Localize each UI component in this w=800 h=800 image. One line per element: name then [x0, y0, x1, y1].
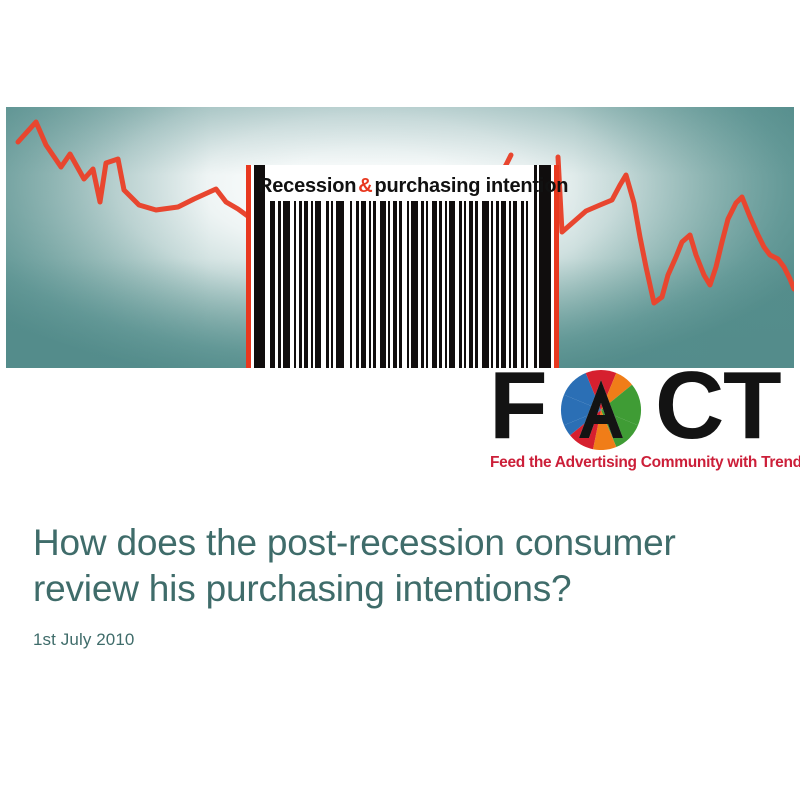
barcode-bar: [496, 201, 499, 368]
logo-letter-f: F: [489, 362, 545, 450]
barcode-bar: [475, 201, 478, 368]
barcode-bar: [361, 201, 366, 368]
barcode-bar: [283, 201, 290, 368]
barcode-bar: [526, 201, 528, 368]
barcode-bar: [509, 201, 511, 368]
barcode-bar: [350, 201, 352, 368]
barcode-bar: [407, 201, 409, 368]
fact-tagline: Feed the Advertising Community with Tren…: [490, 454, 796, 472]
trend-line-right: [558, 157, 794, 303]
logo-letter-c: C: [655, 362, 721, 450]
barcode-bar: [439, 201, 442, 368]
slide-date: 1st July 2010: [33, 630, 763, 650]
barcode-bar: [501, 201, 506, 368]
barcode-bar: [373, 201, 376, 368]
barcode-title-prefix: Recession: [258, 175, 356, 198]
barcode-bar: [294, 201, 296, 368]
page-title: How does the post-recession consumer rev…: [33, 520, 763, 612]
page-title-line-1: How does the post-recession consumer: [33, 522, 676, 563]
logo-letter-t: T: [723, 362, 779, 450]
barcode-bar: [445, 201, 447, 368]
barcode-bar: [304, 201, 308, 368]
barcode-title-text: Recession & purchasing intention: [258, 169, 533, 203]
barcode-bar: [331, 201, 333, 368]
barcode-bar: [388, 201, 390, 368]
presentation-slide: Recession & purchasing intention F C T: [0, 0, 800, 800]
fact-logo: F C T: [489, 368, 795, 478]
barcode-bar: [521, 201, 524, 368]
barcode-bar: [299, 201, 302, 368]
barcode-bar: [411, 201, 418, 368]
barcode-bar: [513, 201, 517, 368]
barcode-bar: [380, 201, 386, 368]
barcode-bar: [369, 201, 371, 368]
barcode-bar: [421, 201, 424, 368]
barcode-bar: [315, 201, 321, 368]
barcode-title-suffix: purchasing intention: [375, 175, 569, 198]
barcode-bar: [393, 201, 397, 368]
logo-letter-a-colored-circle: [549, 370, 653, 450]
barcode-bar: [491, 201, 493, 368]
fact-wordmark: F C T: [489, 368, 795, 456]
barcode-graphic: Recession & purchasing intention: [246, 165, 559, 368]
barcode-bar: [336, 201, 344, 368]
barcode-bar: [311, 201, 313, 368]
barcode-bar: [278, 201, 281, 368]
title-block: How does the post-recession consumer rev…: [33, 520, 763, 650]
barcode-bar: [426, 201, 428, 368]
barcode-bar: [449, 201, 455, 368]
barcode-bar: [326, 201, 329, 368]
barcode-bars: [270, 201, 533, 368]
header-banner-image: Recession & purchasing intention: [6, 107, 794, 368]
barcode-bar: [356, 201, 359, 368]
barcode-bar: [459, 201, 462, 368]
barcode-bar: [399, 201, 402, 368]
barcode-bar: [270, 201, 275, 368]
barcode-bar: [469, 201, 473, 368]
barcode-title-ampersand: &: [356, 175, 374, 198]
barcode-bar: [464, 201, 466, 368]
barcode-accent-line-left: [246, 165, 251, 368]
page-title-line-2: review his purchasing intentions?: [33, 568, 571, 609]
barcode-bar: [482, 201, 489, 368]
barcode-bar: [432, 201, 437, 368]
